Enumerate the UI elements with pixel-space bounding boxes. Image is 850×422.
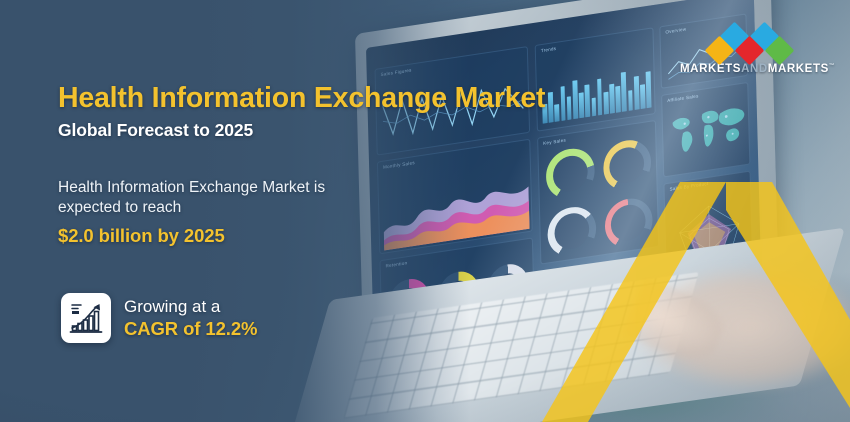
- page-subtitle: Global Forecast to 2025: [58, 120, 253, 141]
- logo-text-markets-1: MARKETS: [680, 63, 741, 75]
- body-text: Health Information Exchange Market is ex…: [58, 178, 325, 218]
- trademark-icon: ™: [829, 63, 835, 69]
- world-map-graphic: [666, 97, 747, 167]
- panel-label: Sales By Product: [669, 181, 708, 192]
- cagr-text: Growing at a CAGR of 12.2%: [124, 296, 257, 340]
- body-line-1: Health Information Exchange Market is: [58, 178, 325, 198]
- logo-diamonds-icon: [692, 24, 810, 60]
- brand-logo[interactable]: MARKETSANDMARKETS™: [680, 24, 822, 75]
- growth-bar-chart-icon: [61, 293, 111, 343]
- growth-chart-glyph: [68, 300, 104, 336]
- banner-content: Health Information Exchange Market Globa…: [58, 0, 598, 422]
- logo-text-markets-2: MARKETS: [768, 63, 829, 75]
- gauge-yellow: [602, 137, 651, 193]
- world-map-panel: Affiliate Sales: [661, 82, 750, 178]
- logo-wordmark: MARKETSANDMARKETS™: [680, 63, 822, 75]
- gauge-red: [604, 195, 653, 251]
- page-title: Health Information Exchange Market: [58, 82, 545, 115]
- cagr-value: CAGR of 12.2%: [124, 317, 257, 340]
- body-line-2: expected to reach: [58, 198, 325, 218]
- cagr-label: Growing at a: [124, 296, 257, 317]
- marketing-banner: Sales Figures Trends Overview: [0, 0, 850, 422]
- logo-text-and: AND: [741, 63, 768, 75]
- panel-label: Affiliate Sales: [667, 93, 698, 103]
- market-value-highlight: $2.0 billion by 2025: [58, 225, 225, 247]
- cagr-block: Growing at a CAGR of 12.2%: [61, 293, 257, 343]
